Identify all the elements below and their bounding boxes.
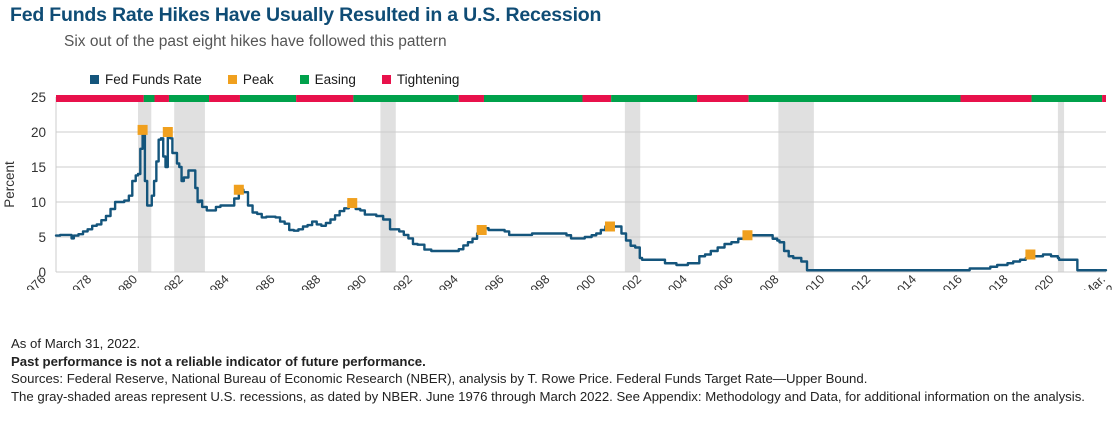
peak-marker[interactable] xyxy=(234,185,244,195)
xtick-label-group: 1980 xyxy=(111,272,141,290)
xtick-label: 2020 xyxy=(1027,272,1057,290)
xaxis-labels-group: 1976197819801982198419861988199019921994… xyxy=(19,272,1112,290)
xtick-label: 1996 xyxy=(477,272,507,290)
recession-band xyxy=(1058,97,1064,272)
xtick-label-group: Mar.2022 xyxy=(1079,272,1112,290)
square-swatch xyxy=(382,75,391,84)
ytick-label: 15 xyxy=(31,160,46,175)
xtick-label-group: 2012 xyxy=(844,272,874,290)
fed-funds-rate-line-chart: 0510152025197619781980198219841986198819… xyxy=(0,90,1112,290)
xtick-label: 1986 xyxy=(248,272,278,290)
xtick-label-group: 1994 xyxy=(431,272,461,290)
legend-item-peak[interactable]: Peak xyxy=(228,72,274,87)
yaxis-title: Percent xyxy=(2,161,17,208)
xtick-label-group: 1992 xyxy=(386,272,416,290)
xtick-label: 2018 xyxy=(981,272,1011,290)
footnote-disclaimer: Past performance is not a reliable indic… xyxy=(11,353,1106,371)
legend-item-easing[interactable]: Easing xyxy=(300,72,356,87)
legend-item-fed-funds-rate[interactable]: Fed Funds Rate xyxy=(90,72,202,87)
recession-band xyxy=(174,97,205,272)
policy-band-tightening xyxy=(1102,95,1106,102)
legend-item-label: Fed Funds Rate xyxy=(105,72,202,87)
footnotes: As of March 31, 2022. Past performance i… xyxy=(11,335,1106,405)
policy-band-tightening xyxy=(697,95,749,102)
footnote-as-of: As of March 31, 2022. xyxy=(11,335,1106,353)
peak-marker[interactable] xyxy=(163,127,173,137)
policy-band-tightening xyxy=(296,95,353,102)
xtick-label-group: 2020 xyxy=(1027,272,1057,290)
peak-marker[interactable] xyxy=(138,125,148,135)
policy-band-easing xyxy=(484,95,583,102)
policy-band-tightening xyxy=(56,95,144,102)
policy-bands-group xyxy=(56,95,1106,102)
xtick-label: 1984 xyxy=(202,272,232,290)
xtick-label: 1982 xyxy=(156,272,186,290)
footnote-sources: Sources: Federal Reserve, National Burea… xyxy=(11,370,1106,388)
xtick-label-group: 1990 xyxy=(340,272,370,290)
xtick-label: 2012 xyxy=(844,272,874,290)
xtick-label-group: 1978 xyxy=(65,272,95,290)
xtick-label-group: 1988 xyxy=(294,272,324,290)
xtick-label-group: 2004 xyxy=(660,272,690,290)
recession-band xyxy=(380,97,395,272)
xtick-label-group: 2006 xyxy=(706,272,736,290)
page-subtitle: Six out of the past eight hikes have fol… xyxy=(64,33,447,51)
square-swatch xyxy=(300,75,309,84)
policy-band-easing xyxy=(749,95,961,102)
xtick-label: 2006 xyxy=(706,272,736,290)
square-swatch xyxy=(90,75,99,84)
xtick-label-group: 2000 xyxy=(569,272,599,290)
xtick-label: 1998 xyxy=(523,272,553,290)
xtick-label: 2000 xyxy=(569,272,599,290)
xtick-label: 2016 xyxy=(935,272,965,290)
xtick-label: 1994 xyxy=(431,272,461,290)
legend-item-label: Peak xyxy=(243,72,274,87)
xtick-label-group: 2008 xyxy=(752,272,782,290)
xtick-label: 2010 xyxy=(798,272,828,290)
policy-band-easing xyxy=(611,95,697,102)
chart-legend: Fed Funds RatePeakEasingTightening xyxy=(90,72,459,87)
xtick-label: 2002 xyxy=(615,272,645,290)
xtick-label-group: 2016 xyxy=(935,272,965,290)
recession-band xyxy=(138,97,151,272)
peak-markers-group xyxy=(138,125,1036,260)
peak-marker[interactable] xyxy=(1025,250,1035,260)
policy-band-easing xyxy=(144,95,155,102)
xtick-label-group: 1984 xyxy=(202,272,232,290)
xtick-label: 1978 xyxy=(65,272,95,290)
policy-band-tightening xyxy=(582,95,611,102)
policy-band-easing xyxy=(169,95,209,102)
legend-item-label: Tightening xyxy=(397,72,460,87)
policy-band-tightening xyxy=(961,95,1032,102)
policy-band-tightening xyxy=(155,95,169,102)
xtick-label-group: 2018 xyxy=(981,272,1011,290)
page-title: Fed Funds Rate Hikes Have Usually Result… xyxy=(10,4,601,27)
xtick-label: 1992 xyxy=(386,272,416,290)
recession-bands-group xyxy=(138,97,1064,272)
peak-marker[interactable] xyxy=(605,222,615,232)
legend-item-label: Easing xyxy=(315,72,356,87)
xtick-label: 2014 xyxy=(890,272,920,290)
xtick-label: 1980 xyxy=(111,272,141,290)
policy-band-easing xyxy=(240,95,296,102)
xtick-label-group: 1982 xyxy=(156,272,186,290)
square-swatch xyxy=(228,75,237,84)
policy-band-tightening xyxy=(459,95,484,102)
xtick-label-group: 2002 xyxy=(615,272,645,290)
peak-marker[interactable] xyxy=(347,198,357,208)
chart-container: 0510152025197619781980198219841986198819… xyxy=(0,90,1112,290)
legend-item-tightening[interactable]: Tightening xyxy=(382,72,460,87)
policy-band-easing xyxy=(353,95,458,102)
peak-marker[interactable] xyxy=(742,230,752,240)
peak-marker[interactable] xyxy=(477,225,487,235)
ytick-label: 25 xyxy=(31,90,46,105)
xtick-label-group: 1986 xyxy=(248,272,278,290)
xtick-label: 2008 xyxy=(752,272,782,290)
policy-band-easing xyxy=(1032,95,1103,102)
xtick-label: 2004 xyxy=(660,272,690,290)
footnote-methodology: The gray-shaded areas represent U.S. rec… xyxy=(11,388,1106,406)
xtick-label: 1988 xyxy=(294,272,324,290)
ytick-label: 10 xyxy=(31,195,46,210)
policy-band-tightening xyxy=(209,95,240,102)
xtick-label-group: 2010 xyxy=(798,272,828,290)
fed-funds-rate-line xyxy=(56,130,1106,270)
xtick-label-group: 2014 xyxy=(890,272,920,290)
xtick-label-group: 1996 xyxy=(477,272,507,290)
ytick-label: 20 xyxy=(31,125,46,140)
xtick-label-group: 1998 xyxy=(523,272,553,290)
xtick-label: 1990 xyxy=(340,272,370,290)
ytick-label: 5 xyxy=(38,230,46,245)
